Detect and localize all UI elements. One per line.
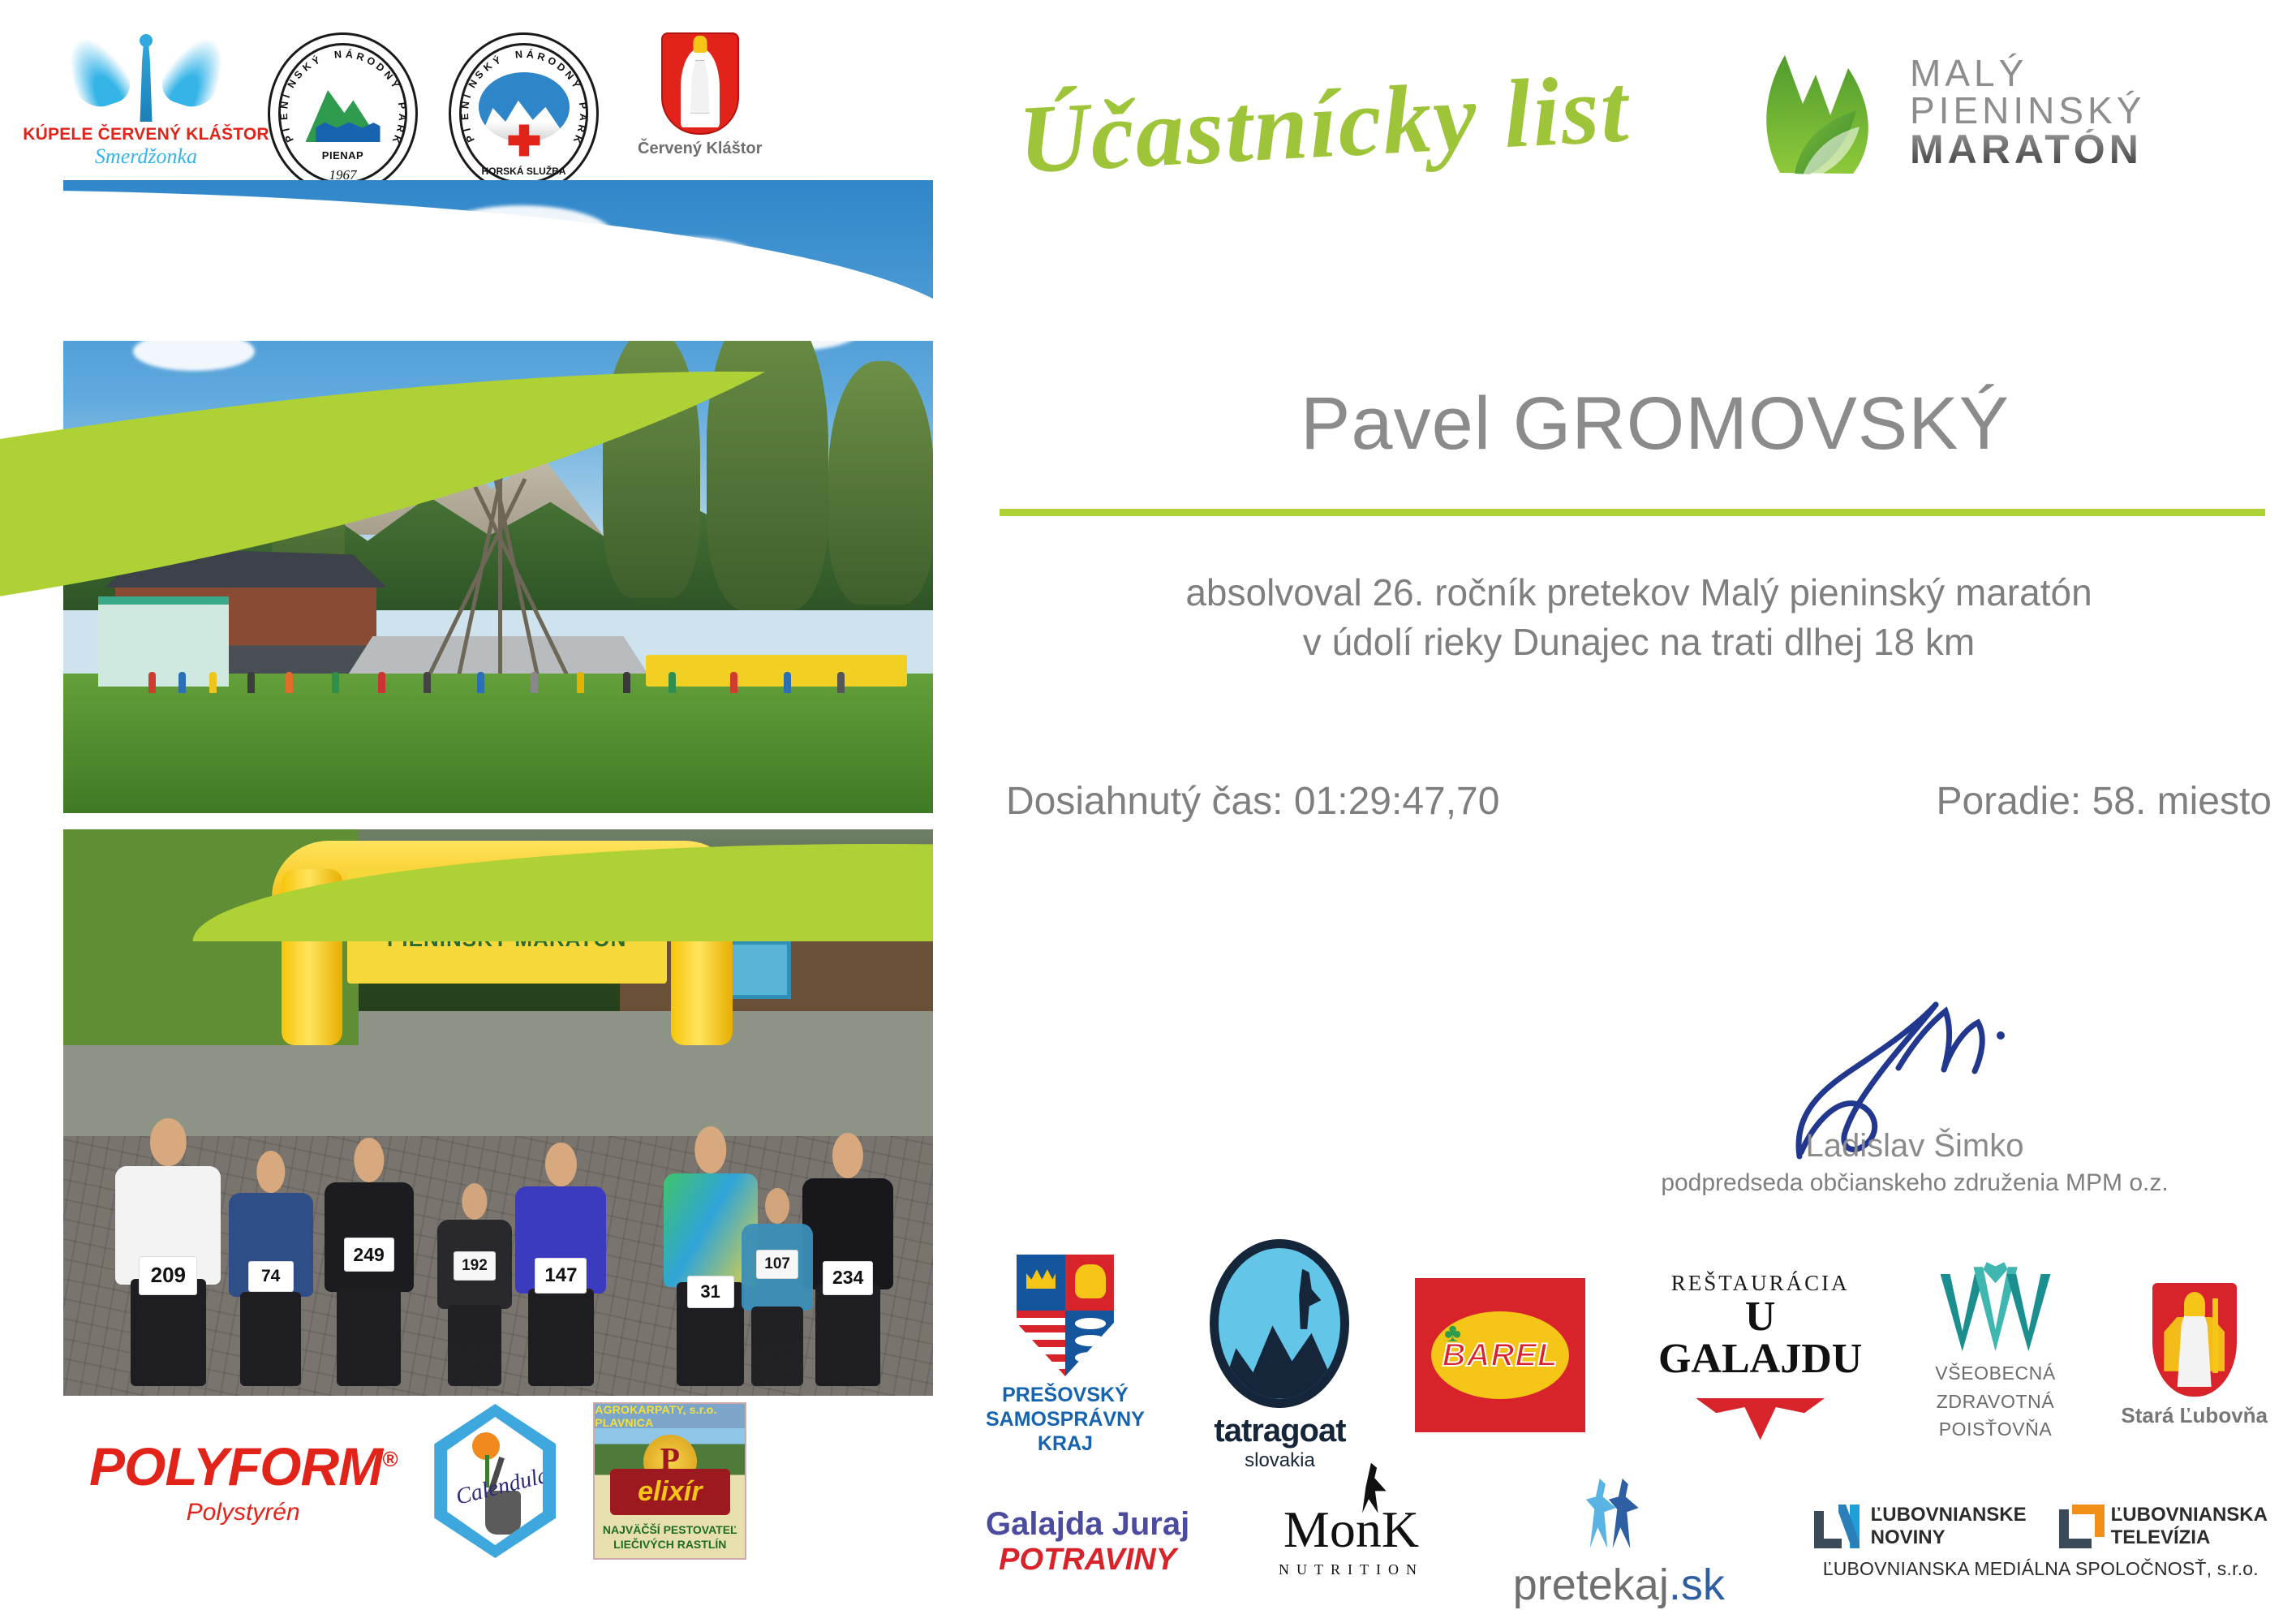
runner: 107 — [742, 1188, 813, 1386]
runner: 74 — [229, 1151, 313, 1386]
sponsor-monk-nutrition: MonK NUTRITION — [1279, 1505, 1424, 1579]
rank-value: 58. miesto — [2092, 780, 2272, 823]
agrokarpaty-top: AGROKARPATY, s.r.o. PLAVNICA — [595, 1403, 745, 1429]
stara-lubovna-coat-of-arms-icon — [2152, 1283, 2237, 1397]
ln-line2: NOVINY — [1871, 1526, 2027, 1549]
runner: 147 — [515, 1143, 606, 1386]
event-logo-line3: MARATÓN — [1910, 129, 2145, 170]
u-galajdu-top: REŠTAURÁCIA — [1671, 1271, 1850, 1296]
signature-block: Ladislav Šimko podpredseda občianskeho z… — [1631, 1006, 2199, 1197]
inflatable-start-arch: MALÝ PIENINSKÝ MARATÓN — [272, 841, 742, 1045]
rank: Poradie: 58. miesto — [1936, 779, 2272, 824]
sponsor-agrokarpaty-elixir: AGROKARPATY, s.r.o. PLAVNICA P elixír NA… — [593, 1402, 746, 1560]
sponsor-vszp: VŠEOBECNÁ ZDRAVOTNÁ POISŤOVŇA — [1935, 1267, 2056, 1444]
monk-sub: NUTRITION — [1279, 1561, 1424, 1578]
page-title: Účastnícky list — [1016, 46, 1751, 196]
tatragoat-name: tatragoat — [1214, 1413, 1345, 1449]
runner: 192 — [437, 1183, 512, 1386]
photo-race-start: MALÝ PIENINSKÝ MARATÓN 209 74 249 147 — [63, 829, 933, 1396]
tatragoat-sub: slovakia — [1245, 1449, 1315, 1472]
event-logo-line2: PIENINSKÝ — [1910, 92, 2145, 129]
vszp-chevron-icon — [1941, 1267, 2051, 1351]
elixir-name: elixír — [638, 1476, 702, 1508]
runner-bib: 209 — [139, 1256, 197, 1295]
finish-time-label: Dosiahnutý čas: — [1006, 780, 1283, 823]
polyform-sub: Polystyrén — [187, 1499, 300, 1526]
running-figures-icon — [1584, 1474, 1653, 1548]
sponsor-lubovnianska-medialna: ĽUBOVNIANSKE NOVINY ĽUBOVNIANSKA TELEVÍZ… — [1814, 1504, 2268, 1580]
runner: 234 — [802, 1133, 893, 1386]
signature-name: Ladislav Šimko — [1631, 1128, 2199, 1165]
clover-icon: ♣ — [1444, 1318, 1472, 1345]
sponsor-galajda-juraj: Galajda Juraj POTRAVINY — [986, 1506, 1189, 1578]
sponsor-pretekaj-sk: pretekaj.sk — [1513, 1474, 1725, 1610]
tatragoat-mountain-goat-icon — [1210, 1239, 1349, 1408]
certificate-page: KÚPELE ČERVENÝ KLÁŠTOR Smerdžonka PIENAP… — [0, 0, 2296, 1623]
runner-bib: 234 — [823, 1261, 873, 1295]
runner: 209 — [115, 1118, 221, 1386]
agrokarpaty-caption: NAJVÄČŠÍ PESTOVATEĽ LIEČIVÝCH RASTLÍN — [595, 1523, 745, 1552]
sponsor-polyform: POLYFORM® Polystyrén — [89, 1436, 397, 1526]
presovsky-kraj-caption: PREŠOVSKÝ SAMOSPRÁVNY KRAJ — [986, 1383, 1145, 1456]
sponsor-u-galajdu: REŠTAURÁCIA U GALAJDU — [1651, 1271, 1870, 1440]
name-underline — [1000, 509, 2265, 516]
arch-text-line1: MALÝ — [469, 902, 544, 928]
body-line-2: v údolí rieky Dunajec na trati dlhej 18 … — [1022, 618, 2255, 667]
runner-bib: 107 — [756, 1250, 798, 1279]
lt-line1: ĽUBOVNIANSKA — [2111, 1504, 2268, 1526]
polyform-name: POLYFORM® — [89, 1436, 397, 1497]
u-galajdu-name: U GALAJDU — [1651, 1296, 1870, 1380]
mountain-leaf-icon — [1752, 47, 1889, 177]
sponsor-row-1: PREŠOVSKÝ SAMOSPRÁVNY KRAJ tatragoat slo… — [986, 1233, 2268, 1477]
sponsor-stara-lubovna: Stará Ľubovňa — [2121, 1283, 2268, 1428]
lubovnianske-noviny: ĽUBOVNIANSKE NOVINY — [1814, 1504, 2027, 1548]
lubovnianska-televizia: ĽUBOVNIANSKA TELEVÍZIA — [2059, 1504, 2268, 1548]
certificate-body: absolvoval 26. ročník pretekov Malý pien… — [1022, 568, 2255, 666]
sponsor-barel: ♣ BAREL — [1415, 1278, 1585, 1432]
stara-lubovna-caption: Stará Ľubovňa — [2121, 1403, 2268, 1428]
runner-bib: 147 — [535, 1258, 587, 1294]
sponsor-row-2: Galajda Juraj POTRAVINY MonK NUTRITION p… — [986, 1477, 2268, 1607]
vszp-caption: VŠEOBECNÁ ZDRAVOTNÁ POISŤOVŇA — [1935, 1359, 2056, 1444]
runner-bib: 192 — [454, 1251, 496, 1281]
pretekaj-name: pretekaj.sk — [1513, 1560, 1725, 1610]
participant-name: Pavel GROMOVSKÝ — [1055, 381, 2255, 467]
runner-bib: 74 — [248, 1261, 294, 1292]
event-logo: MALÝ PIENINSKÝ MARATÓN — [1752, 45, 2272, 179]
galajda-line1: Galajda Juraj — [986, 1506, 1189, 1543]
cerveny-klastor-coat-of-arms-icon — [661, 32, 739, 135]
barel-logo-icon: ♣ BAREL — [1415, 1278, 1585, 1432]
result-row: Dosiahnutý čas: 01:29:47,70 Poradie: 58.… — [1006, 779, 2272, 824]
runner: 249 — [325, 1138, 414, 1386]
arch-text-line2: PIENINSKÝ MARATÓN — [387, 928, 626, 950]
finish-time-value: 01:29:47,70 — [1294, 780, 1500, 823]
presovsky-kraj-coat-of-arms-icon — [1017, 1255, 1114, 1376]
angel-wings-icon — [65, 32, 227, 122]
sponsor-calendula: Calendula — [434, 1404, 556, 1558]
rank-label: Poradie: — [1936, 780, 2081, 823]
body-line-1: absolvoval 26. ročník pretekov Malý pien… — [1022, 568, 2255, 618]
runner-bib: 31 — [687, 1276, 734, 1308]
monk-name: MonK — [1283, 1505, 1419, 1555]
runner-bib: 249 — [344, 1238, 394, 1272]
sponsor-row-bottom-left: POLYFORM® Polystyrén Calendula AGROKARPA… — [89, 1380, 949, 1582]
signature-role: podpredseda občianskeho združenia MPM o.… — [1631, 1169, 2199, 1197]
folk-ornament-bottom-icon — [1696, 1398, 1825, 1440]
lt-line2: TELEVÍZIA — [2111, 1526, 2268, 1549]
lms-footer: ĽUBOVNIANSKA MEDIÁLNA SPOLOČNOSŤ, s.r.o. — [1823, 1558, 2259, 1580]
photo-collage: MALÝ PIENINSKÝ MARATÓN 209 74 249 147 — [0, 130, 933, 1396]
event-logo-line1: MALÝ — [1910, 54, 2145, 92]
sponsor-presovsky-kraj: PREŠOVSKÝ SAMOSPRÁVNY KRAJ — [986, 1255, 1145, 1456]
galajda-line2: POTRAVINY — [999, 1543, 1176, 1578]
lt-monogram-icon — [2059, 1505, 2105, 1548]
ln-monogram-icon — [1814, 1505, 1864, 1548]
finish-time: Dosiahnutý čas: 01:29:47,70 — [1006, 779, 1499, 824]
ln-line1: ĽUBOVNIANSKE — [1871, 1504, 2027, 1526]
sponsor-tatragoat: tatragoat slovakia — [1210, 1239, 1349, 1472]
